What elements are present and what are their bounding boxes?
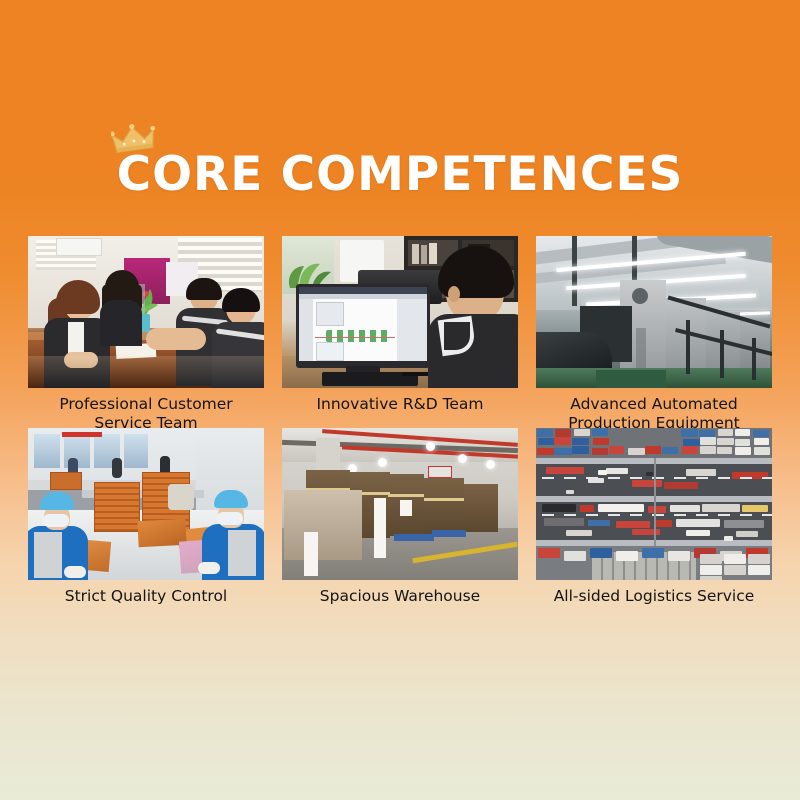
page-title-text: CORE COMPETENCES	[117, 147, 684, 202]
page-title-wrap: CORE COMPETENCES	[0, 150, 800, 200]
competence-caption: Strict Quality Control	[28, 587, 264, 606]
caption-line-1: Spacious Warehouse	[282, 587, 518, 606]
competence-card-logistics[interactable]: All-sided Logistics Service	[536, 428, 772, 606]
competence-card-quality-control[interactable]: Strict Quality Control	[28, 428, 264, 606]
meeting-room-photo	[28, 236, 264, 388]
competence-card-customer-service[interactable]: Professional Customer Service Team	[28, 236, 264, 433]
printing-press-line-photo	[536, 236, 772, 388]
workers-inspecting-boxes-photo	[28, 428, 264, 580]
caption-line-1: Professional Customer	[28, 395, 264, 414]
competence-card-production-equipment[interactable]: Advanced Automated Production Equipment	[536, 236, 772, 433]
aerial-container-port-photo	[536, 428, 772, 580]
crown-icon	[111, 124, 157, 154]
competence-row-2: Strict Quality Control	[28, 428, 772, 606]
caption-line-1: Strict Quality Control	[28, 587, 264, 606]
competence-card-warehouse[interactable]: Spacious Warehouse	[282, 428, 518, 606]
caption-line-1: Advanced Automated	[536, 395, 772, 414]
page-title: CORE COMPETENCES	[117, 150, 684, 200]
warehouse-pallets-photo	[282, 428, 518, 580]
competence-caption: Spacious Warehouse	[282, 587, 518, 606]
competence-caption: Innovative R&D Team	[282, 395, 518, 414]
caption-line-1: All-sided Logistics Service	[536, 587, 772, 606]
designer-at-monitor-photo	[282, 236, 518, 388]
competence-card-rd-team[interactable]: Innovative R&D Team	[282, 236, 518, 433]
caption-line-1: Innovative R&D Team	[282, 395, 518, 414]
competence-row-1: Professional Customer Service Team	[28, 236, 772, 433]
core-competences-banner: CORE COMPETENCES	[0, 0, 800, 800]
competence-caption: All-sided Logistics Service	[536, 587, 772, 606]
